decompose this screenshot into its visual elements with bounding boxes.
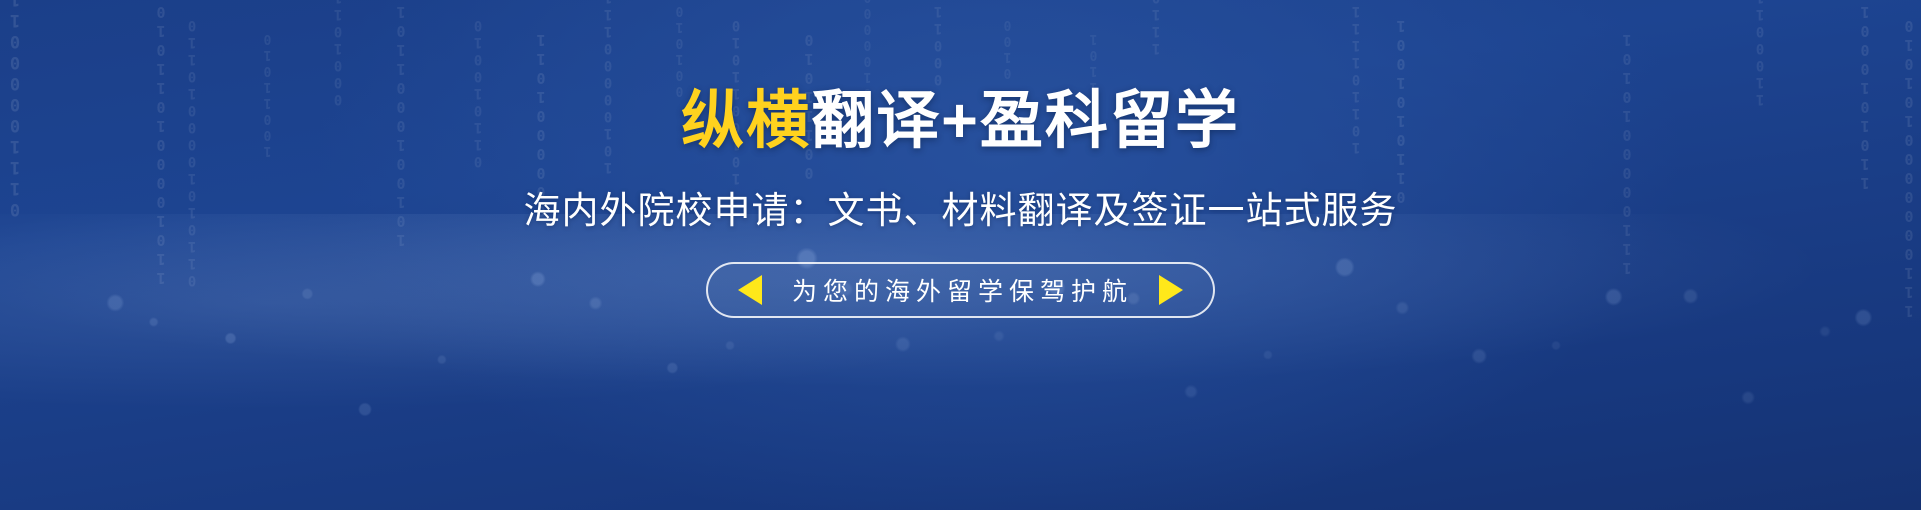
promo-banner: 0111000001111010000101101001101010000101… <box>0 0 1921 510</box>
headline-main-text: 翻译+盈科留学 <box>811 86 1240 156</box>
cta-button-label: 为您的海外留学保驾护航 <box>788 272 1133 308</box>
banner-content: 纵横翻译+盈科留学 海内外院校申请：文书、材料翻译及签证一站式服务 为您的海外留… <box>0 0 1921 510</box>
triangle-right-icon <box>1159 275 1183 305</box>
triangle-left-icon <box>738 275 762 305</box>
cta-button[interactable]: 为您的海外留学保驾护航 <box>706 262 1215 318</box>
banner-headline: 纵横翻译+盈科留学 <box>681 88 1240 154</box>
headline-accent-text: 纵横 <box>681 86 811 156</box>
banner-subtitle: 海内外院校申请：文书、材料翻译及签证一站式服务 <box>524 180 1398 234</box>
